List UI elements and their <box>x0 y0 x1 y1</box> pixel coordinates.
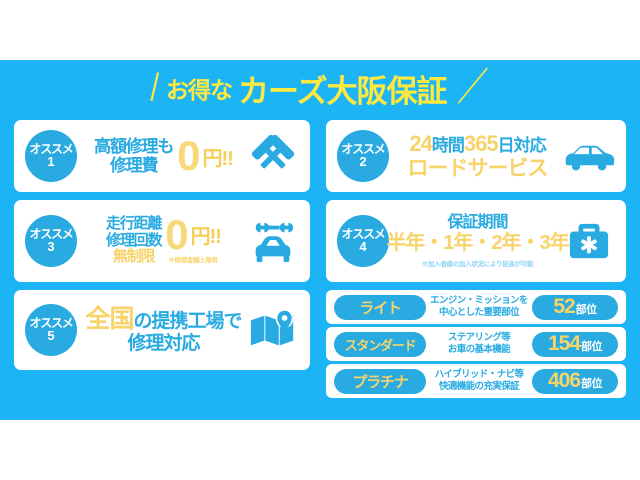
plan-part-count-value: 406 <box>548 369 580 393</box>
advertisement-banner: \ お得な カーズ大阪保証 ／ オススメ 1 高額修理も 修理費 0 円!! <box>0 0 640 480</box>
badge-number: 2 <box>359 155 366 169</box>
feature-line-1: 走行距離 <box>106 216 161 233</box>
plan-part-count-value: 154 <box>548 332 580 356</box>
plan-part-count-value: 52 <box>553 295 574 319</box>
plan-part-count-badge: 52 部位 <box>532 295 618 320</box>
crossed-hammers-icon <box>244 133 302 179</box>
feature-card-5: オススメ 5 全国の提携工場で 修理対応 <box>14 290 310 370</box>
car-side-icon <box>560 140 618 172</box>
days-value: 365 <box>464 131 498 156</box>
plan-part-count-unit: 部位 <box>576 301 597 317</box>
plan-description-line-2: 中心とした重要部位 <box>428 307 530 319</box>
badge-number: 4 <box>359 240 366 254</box>
price-inline: 0 円!! <box>165 218 221 252</box>
feature-line-1: 保証期間 <box>447 214 507 232</box>
recommend-badge-5: オススメ 5 <box>25 304 77 356</box>
banner-title: \ お得な カーズ大阪保証 ／ <box>0 62 640 114</box>
feature-line-2: 修理費 <box>110 156 157 175</box>
warranty-footnote: ※加入者様の加入状況により延長が可能 <box>422 258 533 268</box>
price-amount: 0 <box>165 218 186 252</box>
feature-card-3-lines: 走行距離 修理回数 無制限 <box>106 216 161 266</box>
recommend-badge-1: オススメ 1 <box>25 130 77 182</box>
title-slash-left-icon: \ <box>146 69 164 107</box>
badge-number: 3 <box>47 240 54 254</box>
plan-part-count-badge: 154 部位 <box>532 332 618 357</box>
plan-name-badge: ライト <box>334 295 426 320</box>
price-footnote: ※修理金額上限有 <box>168 254 218 264</box>
map-pin-icon <box>244 308 302 352</box>
price-block: 0 円!! ※修理金額上限有 <box>165 218 221 264</box>
title-prefix-text: お得な <box>166 71 232 105</box>
feature-card-3: オススメ 3 走行距離 修理回数 無制限 0 円!! ※修理金額上限有 <box>14 200 310 282</box>
plan-row[interactable]: ライト エンジン・ミッションを 中心とした重要部位 52 部位 <box>326 290 626 324</box>
feature-line-1: 全国の提携工場で <box>85 305 241 333</box>
feature-card-2-text: 24時間365日対応 ロードサービス <box>395 132 560 180</box>
feature-card-1-lines: 高額修理も 修理費 <box>94 137 173 175</box>
badge-number: 1 <box>47 155 54 169</box>
feature-line-1: 高額修理も <box>94 137 173 156</box>
feature-line-3: 無制限 <box>113 249 154 266</box>
plan-name-badge: スタンダード <box>334 332 426 357</box>
hours-unit: 時間 <box>432 136 464 155</box>
feature-card-1-text: 高額修理も 修理費 0 円!! <box>83 137 244 175</box>
badge-number: 5 <box>47 329 54 343</box>
feature-card-5-text: 全国の提携工場で 修理対応 <box>83 305 244 354</box>
price-unit: 円!! <box>191 220 221 249</box>
recommend-badge-2: オススメ 2 <box>337 130 389 182</box>
feature-card-2: オススメ 2 24時間365日対応 ロードサービス <box>326 120 626 192</box>
feature-line-2: 修理対応 <box>127 333 199 354</box>
days-unit: 日対応 <box>498 136 546 155</box>
car-wrench-icon <box>244 216 302 266</box>
plan-description-line-1: エンジン・ミッションを <box>428 295 530 307</box>
plan-part-count-unit: 部位 <box>581 375 602 391</box>
toolbox-icon <box>560 220 618 262</box>
price-amount: 0 <box>177 139 198 173</box>
title-main-text: カーズ大阪保証 <box>238 66 446 111</box>
feature-card-4-text: 保証期間 半年・1年・2年・3年 ※加入者様の加入状況により延長が可能 <box>395 214 560 267</box>
feature-card-3-inline: 走行距離 修理回数 無制限 0 円!! ※修理金額上限有 <box>106 216 221 266</box>
title-slash-right-icon: ／ <box>456 69 487 107</box>
plan-description: エンジン・ミッションを 中心とした重要部位 <box>426 295 532 319</box>
plan-description-line-1: ステアリング等 <box>428 332 530 344</box>
plan-description: ハイブリッド・ナビ等 快適機能の充実保証 <box>426 369 532 393</box>
recommend-badge-3: オススメ 3 <box>25 215 77 267</box>
hours-value: 24 <box>409 131 431 156</box>
feature-card-4: オススメ 4 保証期間 半年・1年・2年・3年 ※加入者様の加入状況により延長が… <box>326 200 626 282</box>
plan-description-line-1: ハイブリッド・ナビ等 <box>428 369 530 381</box>
plan-row[interactable]: プラチナ ハイブリッド・ナビ等 快適機能の充実保証 406 部位 <box>326 364 626 398</box>
plan-row[interactable]: スタンダード ステアリング等 お車の基本機能 154 部位 <box>326 327 626 361</box>
feature-line-2: 半年・1年・2年・3年 <box>386 232 568 254</box>
nationwide-highlight: 全国 <box>85 305 133 333</box>
plan-part-count-badge: 406 部位 <box>532 369 618 394</box>
feature-card-1-inline: 高額修理も 修理費 0 円!! <box>94 137 233 175</box>
feature-card-3-text: 走行距離 修理回数 無制限 0 円!! ※修理金額上限有 <box>83 216 244 266</box>
plan-description-line-2: お車の基本機能 <box>428 344 530 356</box>
feature-line-2: ロードサービス <box>408 157 548 181</box>
plan-description: ステアリング等 お車の基本機能 <box>426 332 532 356</box>
plan-name-badge: プラチナ <box>334 369 426 394</box>
feature-line-1: 24時間365日対応 <box>409 132 545 157</box>
feature-card-1: オススメ 1 高額修理も 修理費 0 円!! <box>14 120 310 192</box>
plan-description-line-2: 快適機能の充実保証 <box>428 381 530 393</box>
feature-line-2: 修理回数 <box>106 233 161 250</box>
plan-part-count-unit: 部位 <box>581 338 602 354</box>
recommend-badge-4: オススメ 4 <box>337 215 389 267</box>
nationwide-rest: の提携工場で <box>134 311 242 332</box>
price-unit: 円!! <box>203 142 233 171</box>
